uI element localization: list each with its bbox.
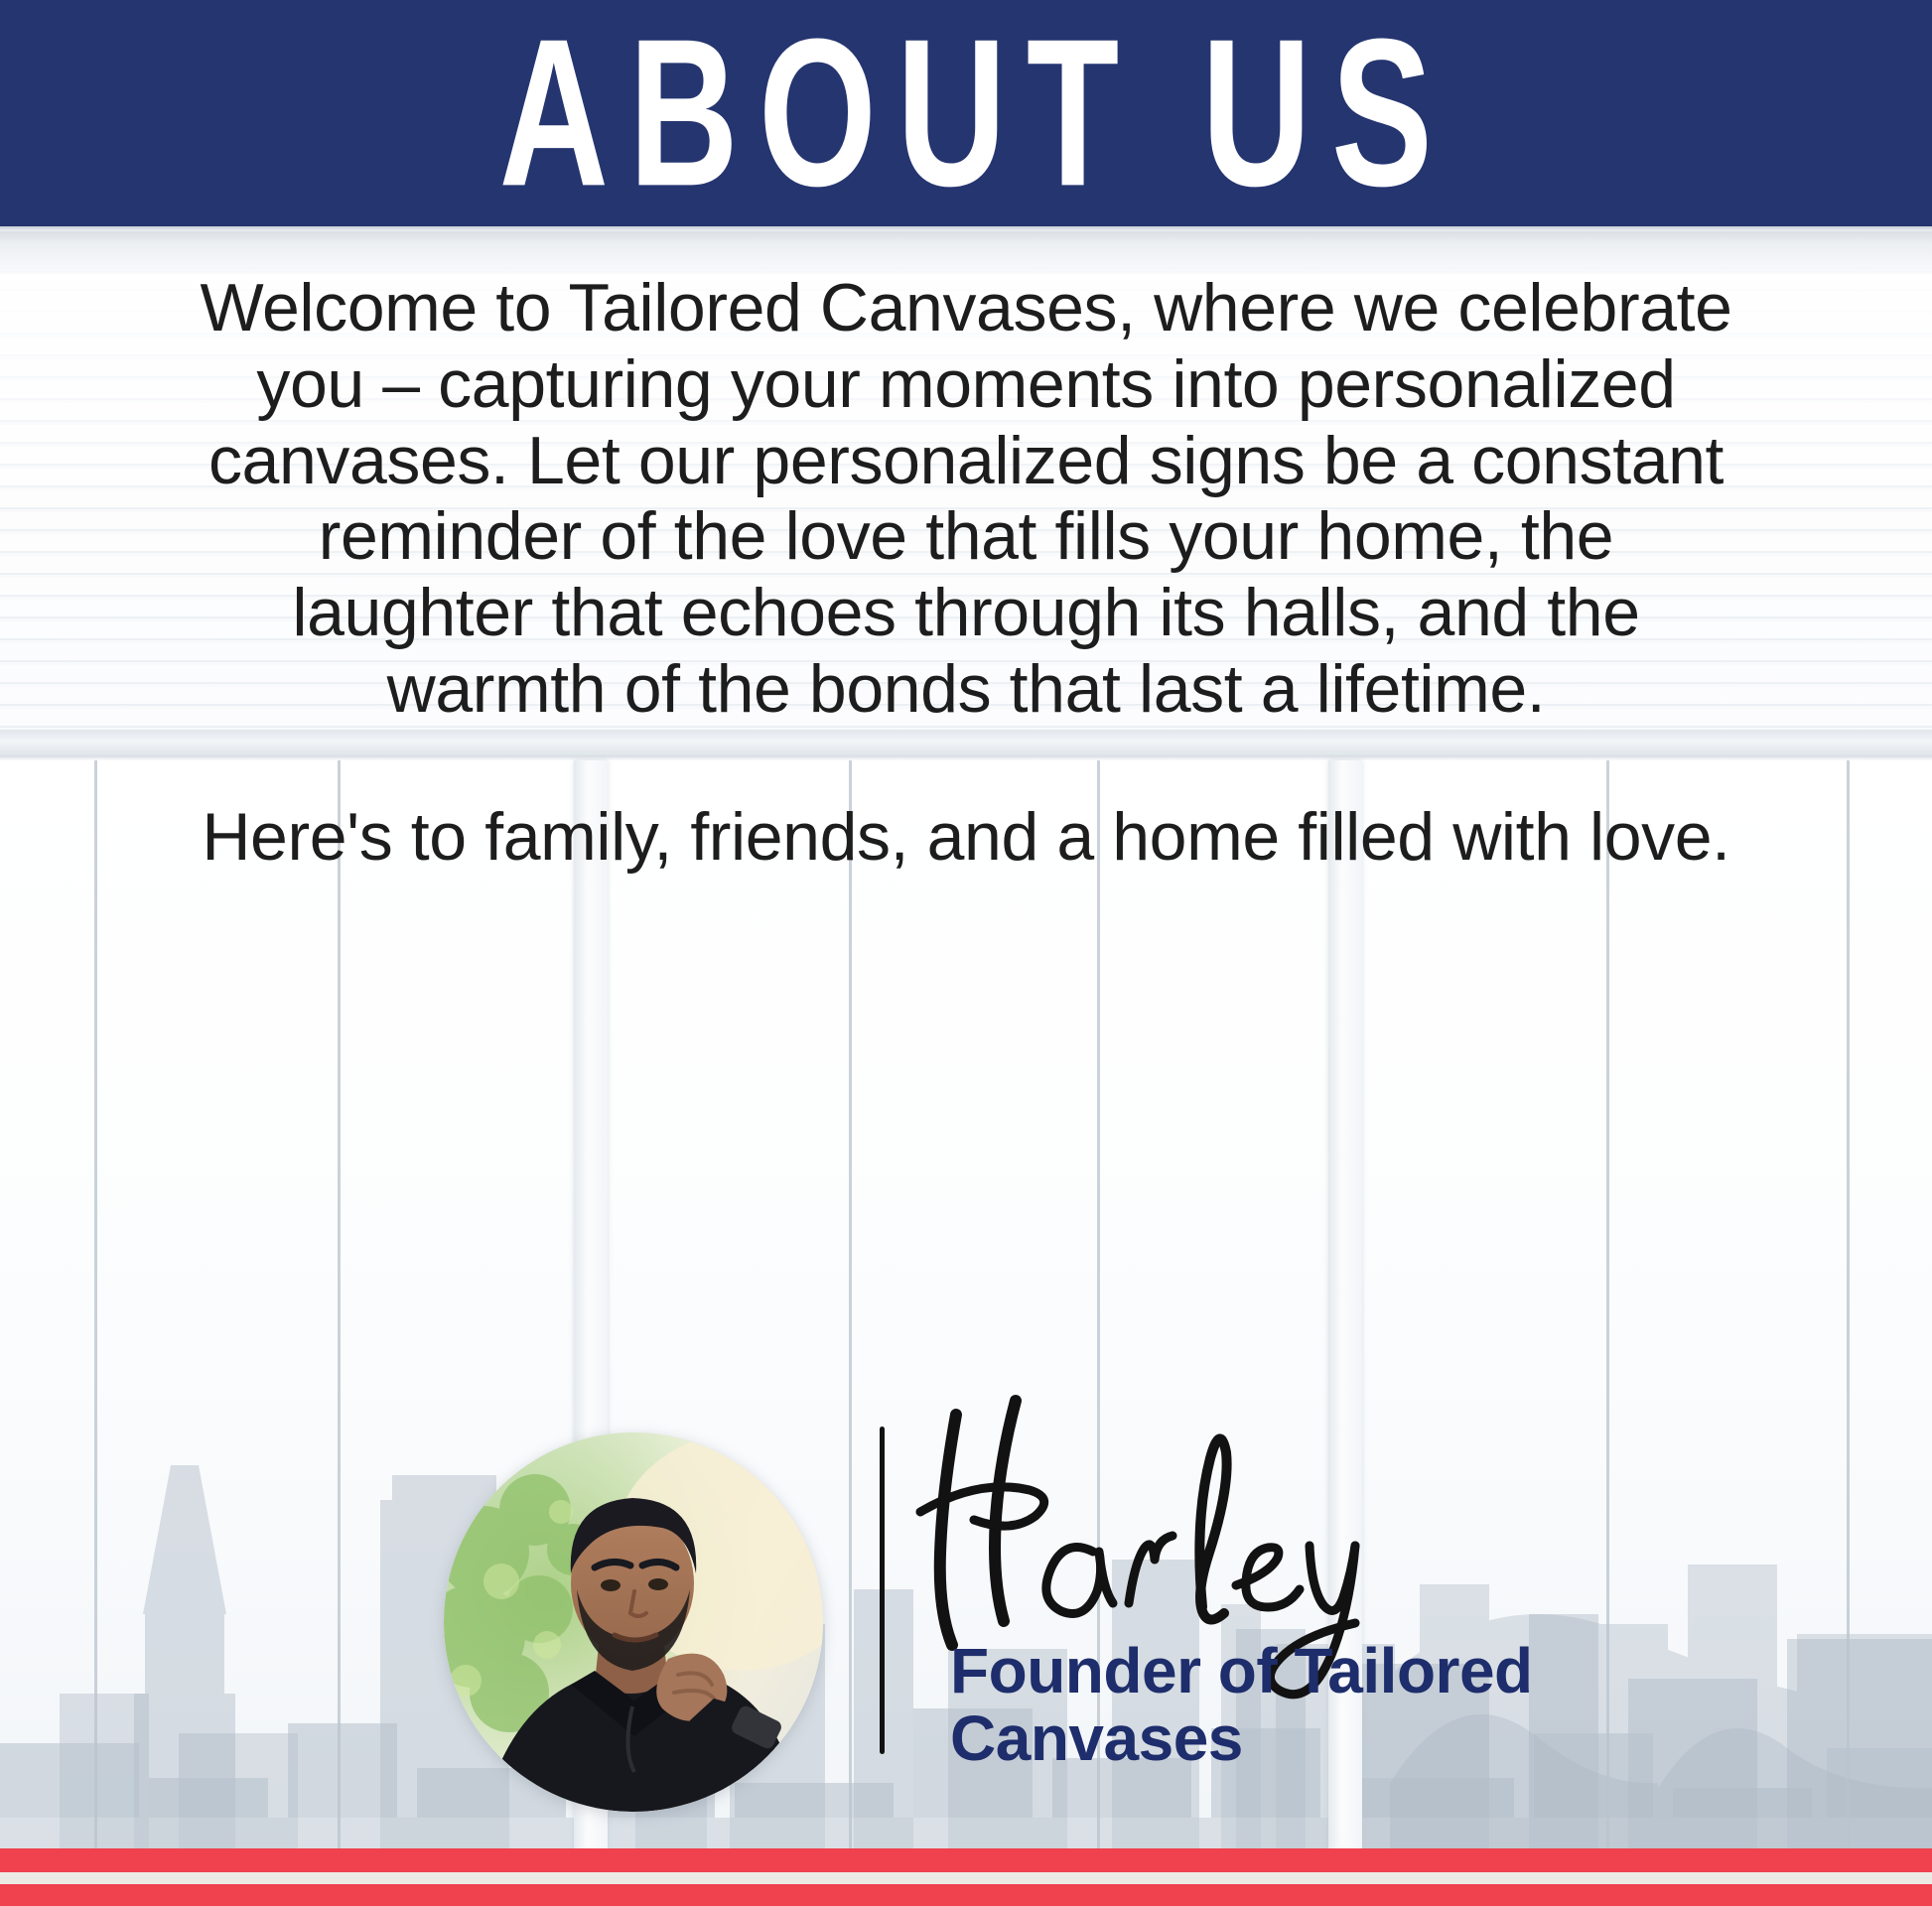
window-mullion <box>94 760 97 1862</box>
avatar <box>444 1432 823 1812</box>
about-us-copy: Welcome to Tailored Canvases, where we c… <box>192 270 1740 876</box>
window-mullion <box>338 760 341 1862</box>
role-line-1: Founder of Tailored <box>950 1638 1705 1705</box>
about-us-card: ABOUT US Welcome to Tailored Canvases, w… <box>0 0 1932 1906</box>
role-line-2: Canvases <box>950 1705 1705 1773</box>
founder-portrait-illustration <box>444 1432 823 1812</box>
founder-role: Founder of Tailored Canvases <box>950 1638 1705 1773</box>
footer-stripe-top <box>0 1848 1932 1872</box>
paragraph-spacer <box>192 728 1740 799</box>
window-mullion <box>1847 760 1850 1862</box>
paragraph-closing: Here's to family, friends, and a home fi… <box>192 799 1740 876</box>
page-title: ABOUT US <box>480 8 1453 218</box>
about-us-banner: ABOUT US <box>0 0 1932 226</box>
window-mullion <box>849 760 852 1862</box>
signature-divider <box>880 1427 885 1754</box>
banner-divider-rule <box>0 226 1932 231</box>
footer-stripe-bottom <box>0 1884 1932 1906</box>
paragraph-intro: Welcome to Tailored Canvases, where we c… <box>192 270 1740 728</box>
footer-stripe-gap <box>0 1872 1932 1884</box>
